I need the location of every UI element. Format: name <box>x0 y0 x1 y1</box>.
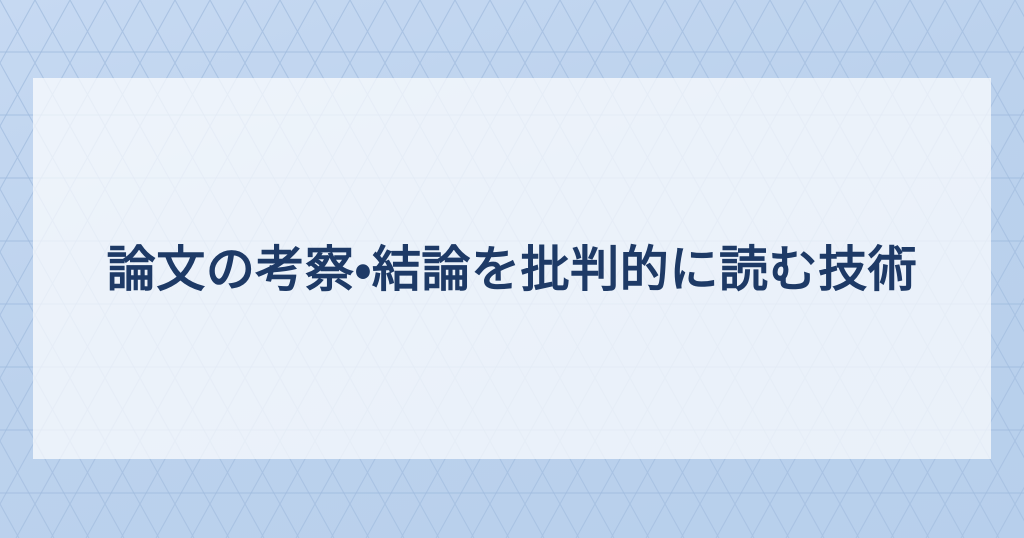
title-card-panel <box>33 78 991 459</box>
slide-canvas: 論文の考察・結論を批判的に読む技術 <box>0 0 1024 538</box>
